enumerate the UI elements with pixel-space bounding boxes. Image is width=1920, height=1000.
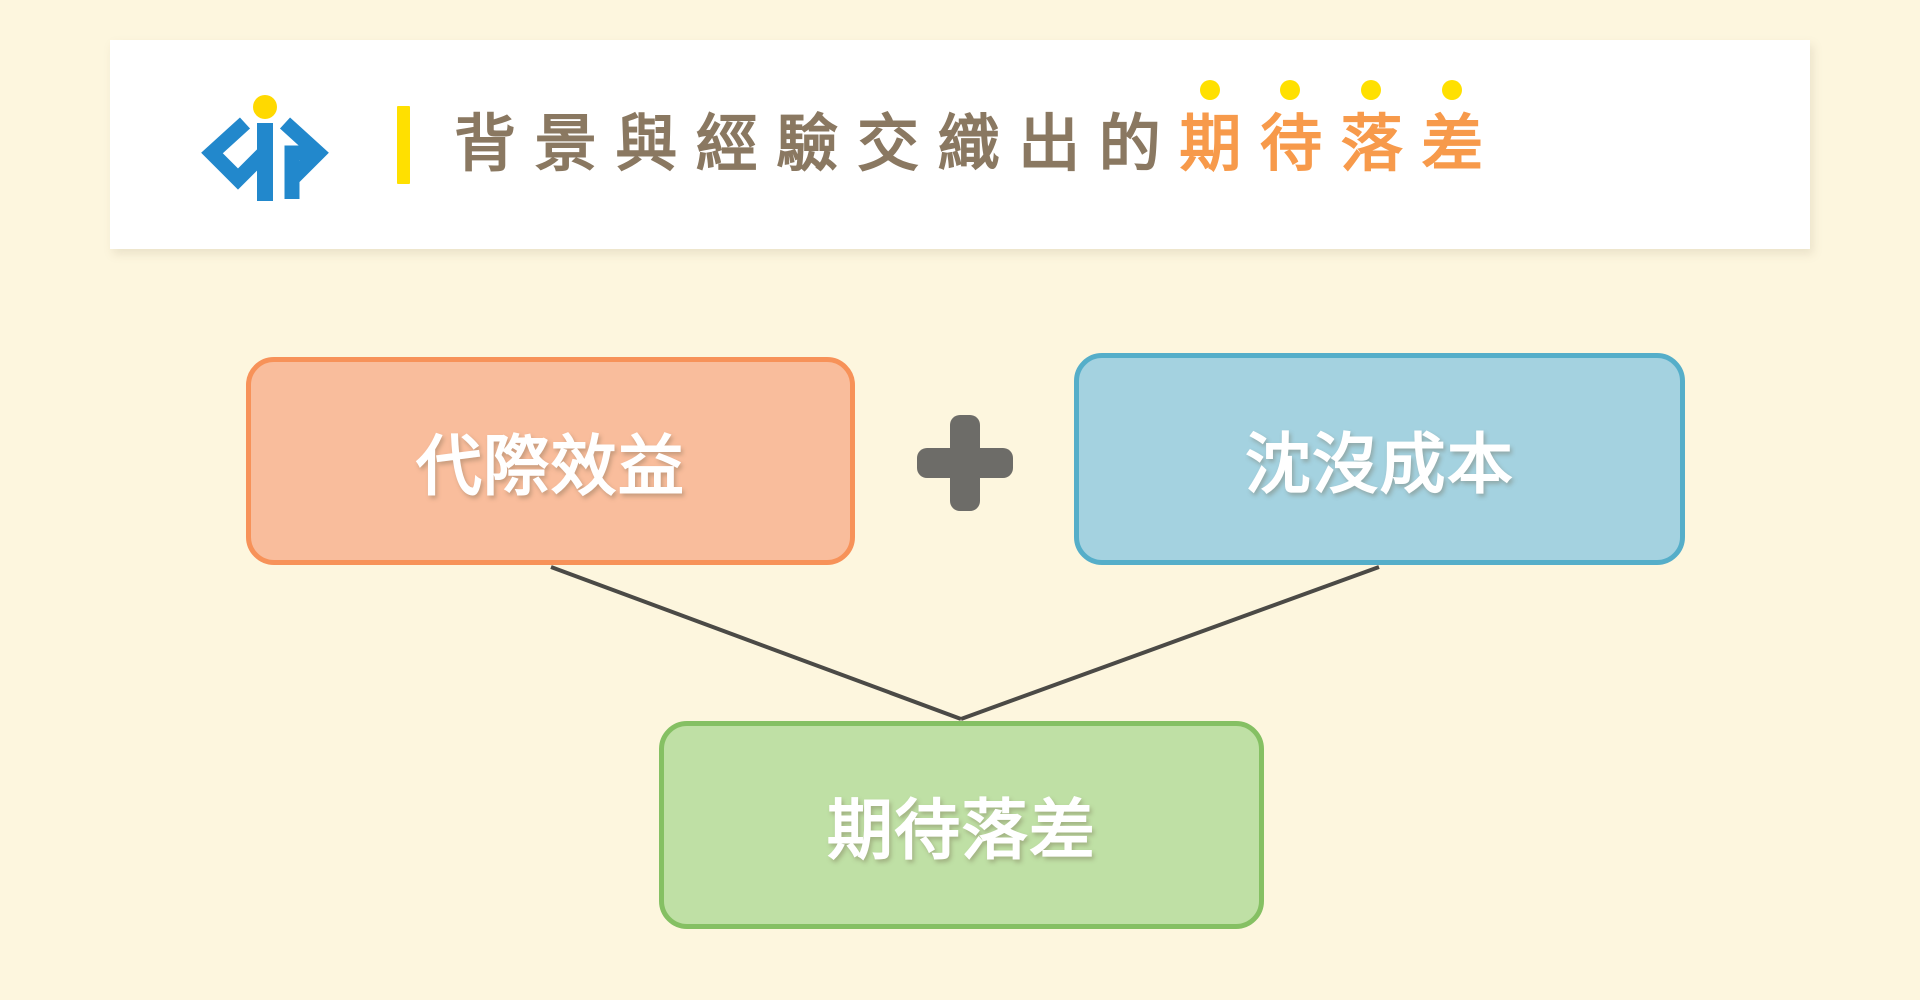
header-card: 背景與經驗交織出的 期待落差 — [110, 40, 1810, 249]
page-title: 背景與經驗交織出的 期待落差 — [454, 114, 1502, 176]
title-divider — [397, 106, 410, 184]
page-title-accent: 期待落差 — [1179, 114, 1501, 176]
accent-char-3: 落 — [1341, 114, 1422, 176]
node-benefit[interactable]: 代際效益 — [246, 357, 855, 565]
accent-char-4: 差 — [1421, 114, 1502, 176]
node-gap[interactable]: 期待落差 — [659, 721, 1264, 929]
node-gap-label: 期待落差 — [827, 777, 1096, 873]
node-sunk-cost-label: 沈沒成本 — [1245, 411, 1514, 507]
node-benefit-label: 代際效益 — [416, 413, 685, 509]
plus-horizontal-bar — [917, 448, 1013, 478]
plus-operator-icon — [917, 415, 1013, 511]
yin-person-logo-icon — [182, 87, 347, 202]
node-sunk-cost[interactable]: 沈沒成本 — [1074, 353, 1685, 565]
accent-char-1: 期 — [1179, 114, 1260, 176]
page-title-plain: 背景與經驗交織出的 — [454, 114, 1179, 176]
concept-diagram: 代際效益 沈沒成本 期待落差 — [0, 249, 1920, 1000]
accent-char-2: 待 — [1260, 114, 1341, 176]
